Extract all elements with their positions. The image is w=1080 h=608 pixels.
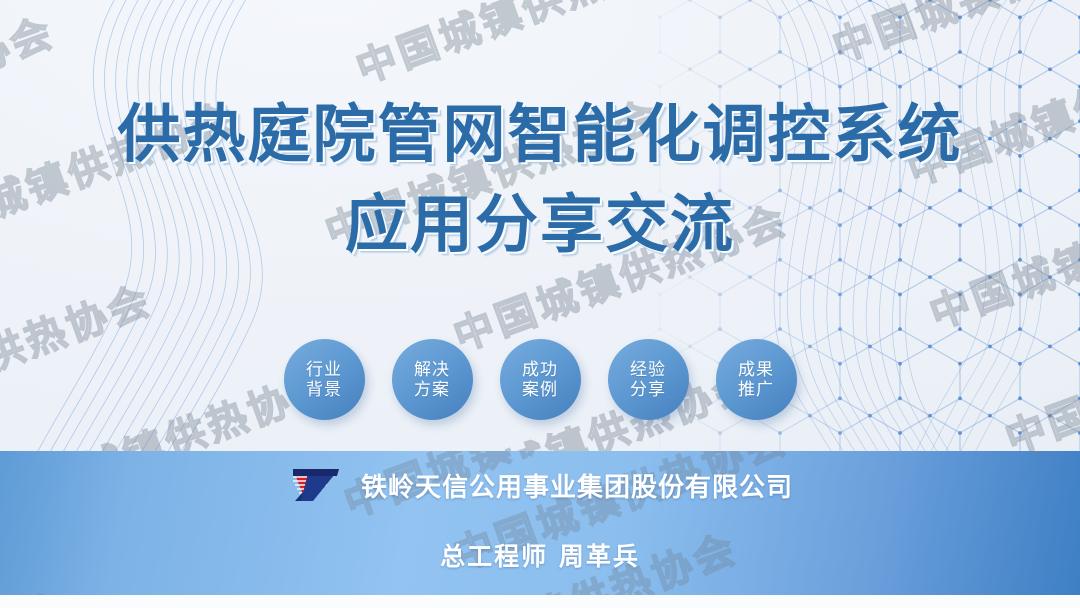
badge-success-case[interactable]: 成功 案例 bbox=[500, 339, 581, 420]
badge-line-top: 成果 bbox=[738, 360, 774, 380]
watermark-text: 中国城镇供热协会 bbox=[347, 0, 698, 95]
speaker-title-and-name: 总工程师 周革兵 bbox=[440, 542, 640, 571]
badge-line-bottom: 分享 bbox=[630, 380, 666, 400]
title-line-2: 应用分享交流 bbox=[0, 186, 1080, 264]
badge-line-bottom: 推广 bbox=[738, 380, 774, 400]
company-name: 铁岭天信公用事业集团股份有限公司 bbox=[361, 467, 793, 504]
badge-line-top: 成功 bbox=[522, 360, 558, 380]
badge-results-promotion[interactable]: 成果 推广 bbox=[716, 339, 797, 420]
presentation-title-slide: 中国城镇供热协会中国城镇供热协会中国城镇供热协会 中国城镇供热协会中国城镇供热协… bbox=[0, 0, 1080, 608]
badge-line-bottom: 背景 bbox=[306, 380, 342, 400]
badge-line-top: 行业 bbox=[306, 360, 342, 380]
badge-line-top: 经验 bbox=[630, 360, 666, 380]
badge-solution[interactable]: 解决 方案 bbox=[392, 339, 473, 420]
badge-line-bottom: 方案 bbox=[414, 380, 450, 400]
badge-line-top: 解决 bbox=[414, 360, 450, 380]
footer-bar: 中国城镇供热协会中国城镇供热协会中国城镇供热协会 中国城镇供热协会中国城镇供热协… bbox=[0, 451, 1080, 595]
watermark-text: 中国城镇供热协会 bbox=[0, 576, 77, 595]
slide-title: 供热庭院管网智能化调控系统 应用分享交流 bbox=[0, 96, 1080, 264]
badge-experience-sharing[interactable]: 经验 分享 bbox=[608, 339, 689, 420]
watermark-text: 中国城镇供热协会 bbox=[823, 0, 1080, 73]
badge-industry-background[interactable]: 行业 背景 bbox=[284, 339, 365, 420]
badge-line-bottom: 案例 bbox=[522, 380, 558, 400]
company-row: 铁岭天信公用事业集团股份有限公司 bbox=[0, 451, 1080, 505]
footer-bottom-gap bbox=[0, 595, 1080, 608]
speaker-row: 总工程师 周革兵 bbox=[0, 537, 1080, 573]
tianxin-logo-icon bbox=[287, 465, 345, 505]
agenda-badges: 行业 背景 解决 方案 成功 案例 经验 分享 成果 推广 bbox=[0, 339, 1080, 420]
title-line-1: 供热庭院管网智能化调控系统 bbox=[0, 96, 1080, 174]
